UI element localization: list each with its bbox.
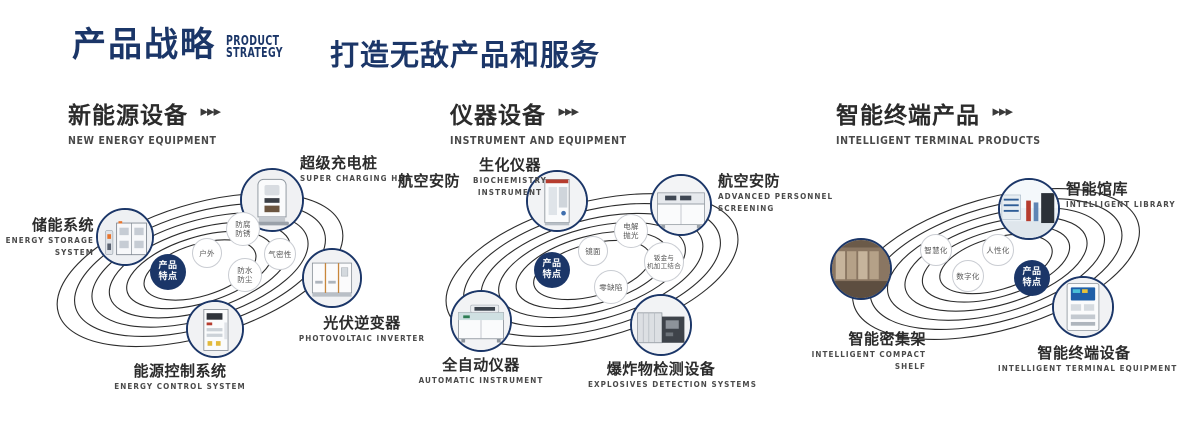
automatic-instrument-icon bbox=[452, 292, 510, 350]
feature-bubble-outdoor: 户外 bbox=[192, 238, 222, 268]
node-label-en-line1: BIOCHEMISTRY bbox=[450, 176, 570, 186]
feature-bubble-digitization: 数字化 bbox=[952, 260, 984, 292]
page-title-en-line2: STRATEGY bbox=[226, 48, 283, 60]
node-label-en-line2: SHELF bbox=[756, 362, 926, 372]
page-title: 产品战略 PRODUCT STRATEGY bbox=[72, 28, 297, 62]
section-title-en: INTELLIGENT TERMINAL PRODUCTS bbox=[836, 135, 1041, 147]
page-slogan: 打造无敌产品和服务 bbox=[330, 32, 600, 74]
section-title-cn: 新能源设备 bbox=[68, 96, 188, 130]
node-label-en-line1: INTELLIGENT TERMINAL EQUIPMENT bbox=[998, 364, 1170, 374]
node-label-energy-storage-system: 储能系统 ENERGY STORAGE SYSTEM bbox=[0, 216, 94, 258]
feature-bubble-label-line1: 电解 bbox=[623, 222, 639, 231]
node-label-cn: 生化仪器 bbox=[450, 156, 570, 174]
node-label-en-line1: ENERGY STORAGE bbox=[0, 236, 94, 246]
inverter-icon bbox=[304, 250, 360, 306]
node-label-intelligent-compact-shelf: 智能密集架 INTELLIGENT COMPACT SHELF bbox=[756, 330, 926, 372]
section-title-instrument: 仪器设备 ▸▸▸ INSTRUMENT AND EQUIPMENT bbox=[450, 96, 627, 147]
feature-bubble-airtightness: 气密性 bbox=[264, 238, 296, 270]
feature-bubble-label: 零缺陷 bbox=[599, 283, 622, 292]
node-label-en-line1: INTELLIGENT COMPACT bbox=[756, 350, 926, 360]
node-label-automatic-instrument: 全自动仪器 AUTOMATIC INSTRUMENT bbox=[410, 356, 552, 386]
node-label-cn: 全自动仪器 bbox=[410, 356, 552, 374]
section-title-en: INSTRUMENT AND EQUIPMENT bbox=[450, 135, 627, 147]
compact-shelf-icon bbox=[832, 240, 890, 298]
chevrons-right-icon: ▸▸▸ bbox=[200, 102, 220, 120]
node-label-en-line2: INSTRUMENT bbox=[450, 188, 570, 198]
section-title-intelligent-terminal: 智能终端产品 ▸▸▸ INTELLIGENT TERMINAL PRODUCTS bbox=[836, 96, 1041, 147]
core-line1: 产品 bbox=[542, 259, 561, 270]
node-label-en-line1: ENERGY CONTROL SYSTEM bbox=[80, 382, 280, 392]
page-title-cn: 产品战略 bbox=[72, 28, 216, 62]
node-label-cn: 智能密集架 bbox=[756, 330, 926, 348]
battery-cabinet-icon bbox=[98, 210, 152, 264]
feature-bubble-label-line2: 机加工结合 bbox=[647, 262, 681, 270]
page-title-en: PRODUCT STRATEGY bbox=[226, 36, 283, 60]
node-label-cn: 爆炸物检测设备 bbox=[588, 360, 734, 378]
chevrons-right-icon: ▸▸▸ bbox=[992, 102, 1012, 120]
node-energy-control-system[interactable] bbox=[186, 300, 244, 358]
node-label-intelligent-terminal-equipment: 智能终端设备 INTELLIGENT TERMINAL EQUIPMENT bbox=[998, 344, 1170, 374]
node-label-en-line1: AUTOMATIC INSTRUMENT bbox=[410, 376, 552, 386]
feature-bubble-label-line1: 防腐 bbox=[235, 220, 251, 229]
node-label-en-line2: SYSTEM bbox=[0, 248, 94, 258]
orbit-group-instrument: 产品 特点 镜面 电解 抛光 钣金与 机加工结合 零缺陷 航空安防 生化仪器 bbox=[392, 148, 802, 398]
core-bubble-product-features: 产品 特点 bbox=[534, 252, 570, 288]
feature-bubble-label: 镜面 bbox=[585, 247, 601, 256]
node-energy-storage-system[interactable] bbox=[96, 208, 154, 266]
node-label-en-line1: EXPLOSIVES DETECTION SYSTEMS bbox=[588, 380, 734, 390]
control-cabinet-icon bbox=[188, 302, 242, 356]
terminal-kiosk-icon bbox=[1054, 278, 1112, 336]
explosives-detector-icon bbox=[632, 296, 690, 354]
orbit-group-intelligent-terminal: 产品 特点 智慧化 数字化 人性化 智能馆库 INTELLIGENT LIBRA… bbox=[800, 152, 1200, 402]
section-title-cn: 仪器设备 bbox=[450, 96, 546, 130]
feature-bubble-label-line2: 防锈 bbox=[235, 229, 251, 238]
node-advanced-personnel-screening[interactable] bbox=[650, 174, 712, 236]
core-bubble-product-features: 产品 特点 bbox=[1014, 260, 1050, 296]
feature-bubble-electropolishing: 电解 抛光 bbox=[614, 214, 648, 248]
core-line1: 产品 bbox=[158, 261, 177, 272]
smart-library-icon bbox=[1000, 180, 1058, 238]
core-line2: 特点 bbox=[542, 270, 561, 281]
screening-machine-icon bbox=[652, 176, 710, 234]
node-explosives-detection-systems[interactable] bbox=[630, 294, 692, 356]
node-label-intelligent-library: 智能馆库 INTELLIGENT LIBRARY bbox=[1066, 180, 1176, 210]
feature-bubble-label: 智慧化 bbox=[924, 246, 947, 255]
section-title-en: NEW ENERGY EQUIPMENT bbox=[68, 135, 220, 147]
node-automatic-instrument[interactable] bbox=[450, 290, 512, 352]
feature-bubble-label: 气密性 bbox=[268, 250, 291, 259]
node-label-biochemistry-instrument: 生化仪器 BIOCHEMISTRY INSTRUMENT bbox=[450, 156, 570, 198]
feature-bubble-label-line2: 防尘 bbox=[237, 275, 253, 284]
node-label-cn: 能源控制系统 bbox=[80, 362, 280, 380]
section-title-new-energy: 新能源设备 ▸▸▸ NEW ENERGY EQUIPMENT bbox=[68, 96, 220, 147]
node-label-cn: 智能终端设备 bbox=[998, 344, 1170, 362]
core-line1: 产品 bbox=[1022, 267, 1041, 278]
feature-bubble-sheetmetal-machining: 钣金与 机加工结合 bbox=[644, 242, 684, 282]
feature-bubble-label: 户外 bbox=[199, 249, 215, 258]
node-photovoltaic-inverter[interactable] bbox=[302, 248, 362, 308]
core-line2: 特点 bbox=[158, 272, 177, 283]
node-intelligent-compact-shelf[interactable] bbox=[830, 238, 892, 300]
feature-bubble-mirror-finish: 镜面 bbox=[578, 236, 608, 266]
section-title-cn: 智能终端产品 bbox=[836, 96, 980, 130]
feature-bubble-waterproof: 防水 防尘 bbox=[228, 258, 262, 292]
feature-bubble-label-line1: 钣金与 bbox=[647, 254, 681, 262]
feature-bubble-intelligentization: 智慧化 bbox=[920, 234, 952, 266]
feature-bubble-label-line1: 防水 bbox=[237, 266, 253, 275]
node-label-explosives-detection-systems: 爆炸物检测设备 EXPLOSIVES DETECTION SYSTEMS bbox=[588, 360, 734, 390]
feature-bubble-label: 数字化 bbox=[956, 272, 979, 281]
feature-bubble-anticorrosion: 防腐 防锈 bbox=[226, 212, 260, 246]
product-strategy-infographic: 产品战略 PRODUCT STRATEGY 打造无敌产品和服务 新能源设备 ▸▸… bbox=[0, 0, 1200, 422]
feature-bubble-zero-defect: 零缺陷 bbox=[594, 270, 628, 304]
node-intelligent-library[interactable] bbox=[998, 178, 1060, 240]
core-line2: 特点 bbox=[1022, 278, 1041, 289]
feature-bubble-label-line2: 抛光 bbox=[623, 231, 639, 240]
node-label-cn: 航空安防 bbox=[340, 172, 460, 190]
feature-bubble-humanization: 人性化 bbox=[982, 234, 1014, 266]
feature-bubble-label: 人性化 bbox=[986, 246, 1009, 255]
core-bubble-product-features: 产品 特点 bbox=[150, 254, 186, 290]
node-label-energy-control-system: 能源控制系统 ENERGY CONTROL SYSTEM bbox=[80, 362, 280, 392]
node-label-aviation-security-left: 航空安防 bbox=[340, 172, 460, 190]
chevrons-right-icon: ▸▸▸ bbox=[558, 102, 578, 120]
node-label-en-line1: INTELLIGENT LIBRARY bbox=[1066, 200, 1176, 210]
node-label-cn: 智能馆库 bbox=[1066, 180, 1176, 198]
node-intelligent-terminal-equipment[interactable] bbox=[1052, 276, 1114, 338]
node-label-cn: 储能系统 bbox=[0, 216, 94, 234]
